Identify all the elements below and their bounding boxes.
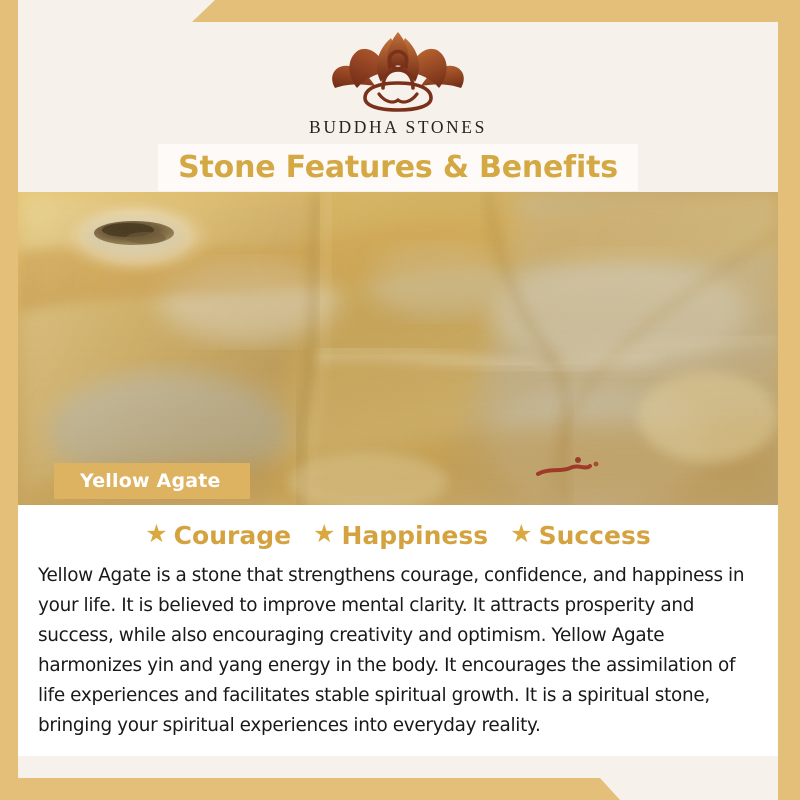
stone-name-label: Yellow Agate — [80, 470, 221, 492]
frame-bottom-gold-band — [0, 778, 800, 800]
header: BUDDHA STONES Stone Features & Benefits — [18, 22, 778, 192]
frame-left-gold-band — [0, 0, 18, 800]
benefit-label: Courage — [174, 521, 291, 550]
benefit-label: Success — [539, 521, 651, 550]
stone-name-badge: Yellow Agate — [54, 463, 250, 499]
product-info-card: BUDDHA STONES Stone Features & Benefits — [0, 0, 800, 800]
brand-logo: BUDDHA STONES — [18, 26, 778, 138]
stone-photo: Yellow Agate — [18, 192, 778, 505]
lotus-meditation-figure-icon — [313, 26, 483, 116]
frame-top-gold-band — [0, 0, 800, 22]
benefits-list: ★ Courage ★ Happiness ★ Success — [18, 505, 778, 550]
brand-name: BUDDHA STONES — [309, 117, 487, 138]
yellow-agate-texture-image — [18, 192, 778, 505]
star-icon: ★ — [510, 522, 532, 547]
frame-right-gold-band — [778, 0, 800, 800]
title-banner: Stone Features & Benefits — [158, 144, 638, 191]
benefit-item-courage: ★ Courage — [145, 521, 291, 550]
benefit-item-success: ★ Success — [510, 521, 651, 550]
content-card: ★ Courage ★ Happiness ★ Success Yellow A… — [18, 505, 778, 756]
benefit-label: Happiness — [341, 521, 488, 550]
benefit-item-happiness: ★ Happiness — [313, 521, 488, 550]
page-title: Stone Features & Benefits — [178, 150, 618, 185]
star-icon: ★ — [145, 522, 167, 547]
stone-description: Yellow Agate is a stone that strengthens… — [38, 561, 752, 740]
star-icon: ★ — [313, 522, 335, 547]
